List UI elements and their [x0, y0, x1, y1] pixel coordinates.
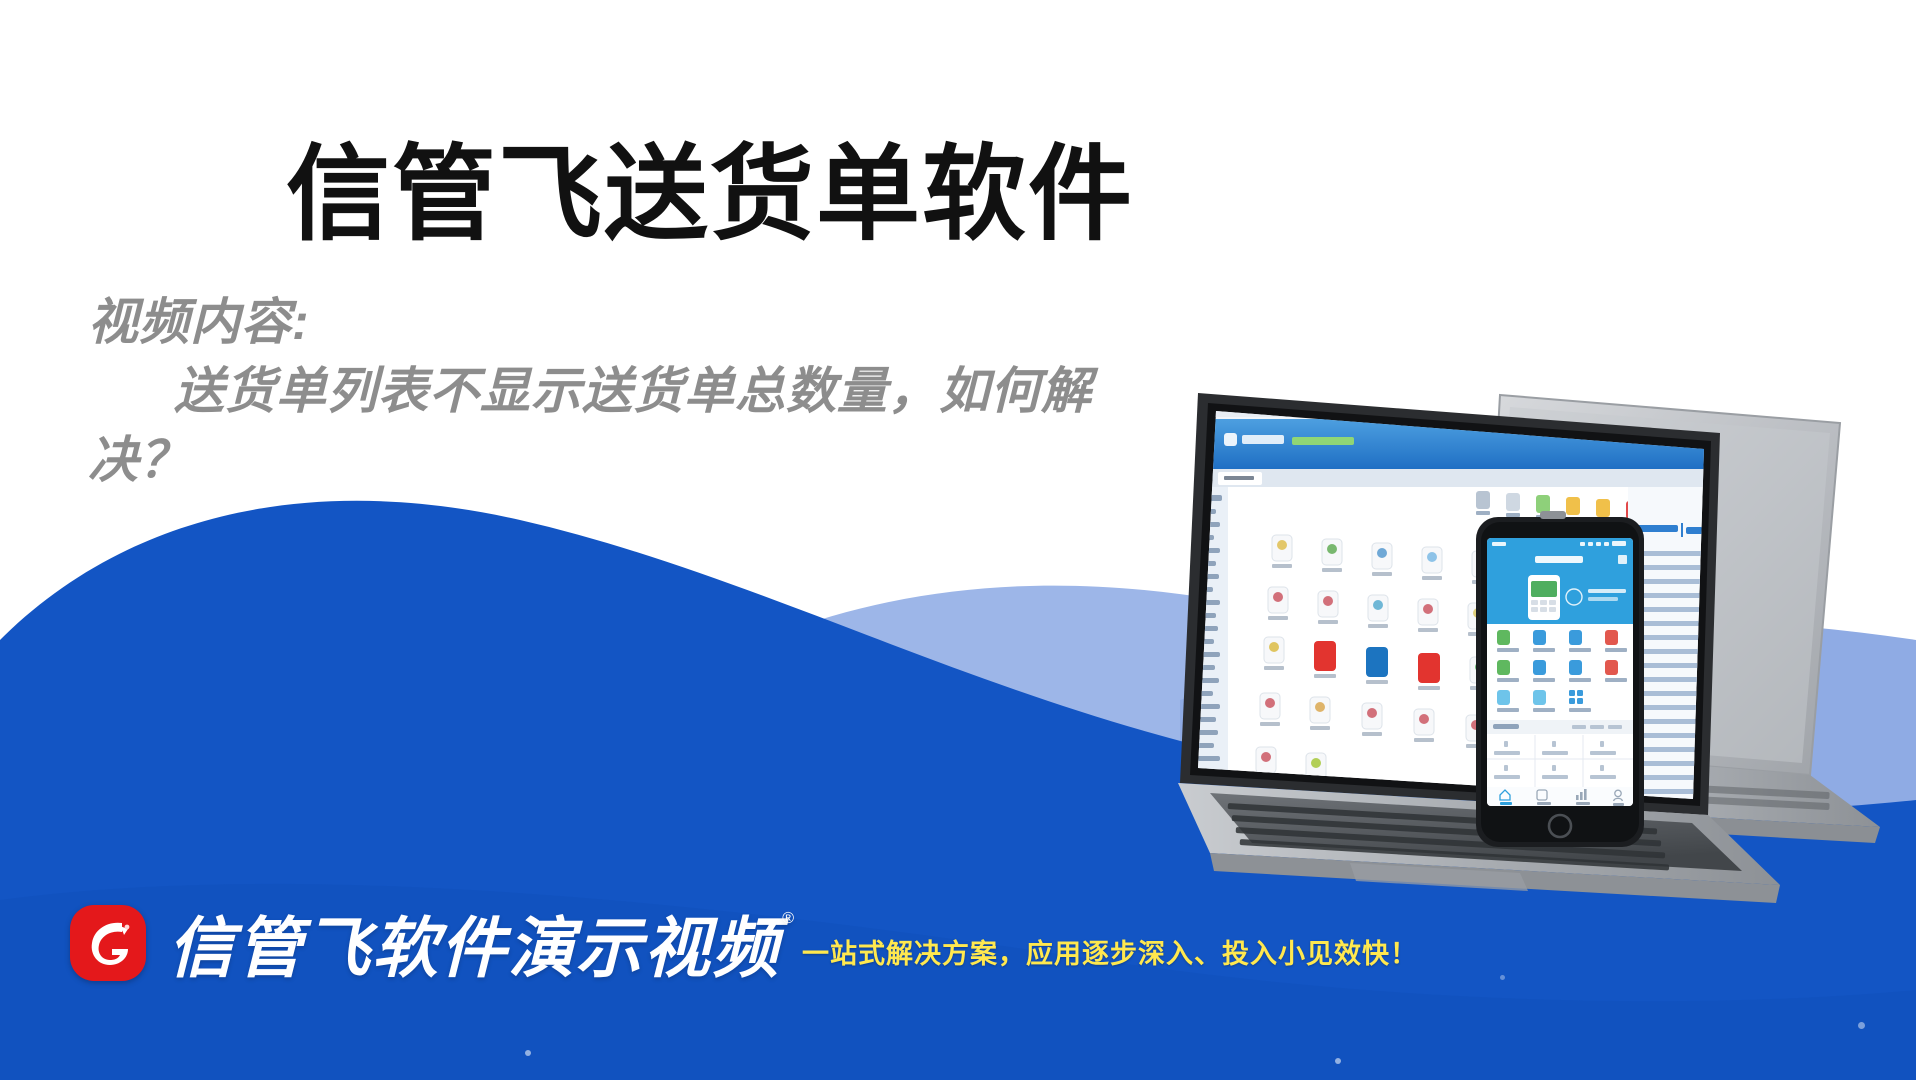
decorative-dot: [1858, 1022, 1865, 1029]
brand-lockup: 信管飞软件演示视频 ® 一站式解决方案，应用逐步深入、投入小见效快！: [70, 905, 1418, 981]
device-mockups: [880, 375, 1916, 935]
laptop-screen: [1180, 395, 1740, 817]
decorative-dot: [1500, 975, 1505, 980]
decorative-dot: [1335, 1058, 1341, 1064]
brand-name-text: 信管飞软件演示视频: [168, 911, 780, 985]
smartphone: [1476, 511, 1644, 847]
brand-tagline: 一站式解决方案，应用逐步深入、投入小见效快！: [802, 932, 1418, 981]
xinguanfei-logo-icon: [70, 905, 146, 981]
phone-menu-icon: [1618, 555, 1627, 564]
registered-mark: ®: [782, 911, 796, 927]
phone-app-title: [1535, 556, 1583, 563]
slide-title: 信管飞送货单软件: [0, 138, 1420, 252]
body-lead-label: 视频内容:: [88, 288, 1118, 357]
brand-name: 信管飞软件演示视频 ®: [168, 915, 780, 981]
slide-canvas: 信管飞送货单软件 视频内容: 送货单列表不显示送货单总数量，如何解决？: [0, 0, 1916, 1080]
decorative-dot: [525, 1050, 531, 1056]
phone-screen: [1487, 538, 1633, 806]
